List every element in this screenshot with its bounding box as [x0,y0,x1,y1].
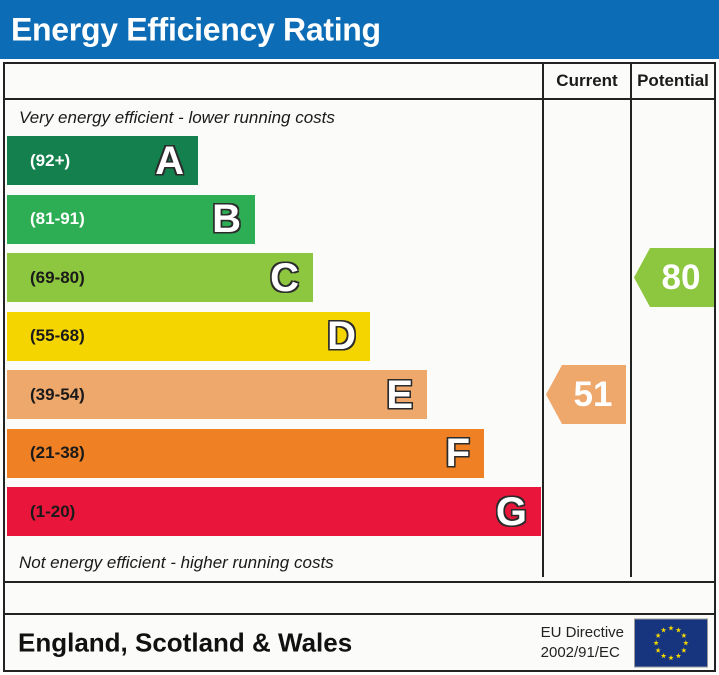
band-range-label: (69-80) [30,268,85,288]
current-rating-marker: 51 [546,365,626,424]
column-header-current: Current [542,64,630,98]
rating-bands-list: (92+)A(81-91)B(69-80)C(55-68)D(39-54)E(2… [7,136,542,545]
energy-efficiency-rating-certificate: Energy Efficiency Rating Current Potenti… [0,0,719,675]
chart-bottom-rule [5,581,714,583]
band-letter-label: F [446,433,470,473]
column-divider-current [542,100,544,577]
caption-top-text: Very energy efficient - lower running co… [5,108,335,128]
band-range-label: (55-68) [30,326,85,346]
rating-band-g: (1-20)G [7,487,541,536]
band-range-label: (81-91) [30,209,85,229]
rating-band-a: (92+)A [7,136,198,185]
rating-band-e: (39-54)E [7,370,427,419]
column-header-potential: Potential [630,64,714,98]
band-range-label: (21-38) [30,443,85,463]
rating-band-c: (69-80)C [7,253,313,302]
footer-directive-label: EU Directive 2002/91/EC [541,622,624,663]
band-letter-label: A [155,141,184,181]
band-letter-label: B [212,199,241,239]
chart-frame: Current Potential Very energy efficient … [3,62,716,615]
footer-directive-line1: EU Directive [541,622,624,642]
band-letter-label: C [270,258,299,298]
page-title: Energy Efficiency Rating [11,11,381,48]
footer-bar: England, Scotland & Wales EU Directive 2… [3,615,716,672]
rating-band-d: (55-68)D [7,312,370,361]
footer-region-label: England, Scotland & Wales [18,627,352,658]
footer-directive-line2: 2002/91/EC [541,643,624,663]
band-range-label: (1-20) [30,502,75,522]
rating-band-f: (21-38)F [7,429,484,478]
band-range-label: (92+) [30,151,70,171]
band-letter-label: G [496,492,527,532]
band-letter-label: E [386,375,413,415]
band-letter-label: D [327,316,356,356]
column-header-row: Current Potential [5,64,714,100]
column-divider-potential [630,100,632,577]
caption-bottom-text: Not energy efficient - higher running co… [5,553,334,573]
caption-top: Very energy efficient - lower running co… [5,100,542,136]
band-range-label: (39-54) [30,385,85,405]
caption-bottom: Not energy efficient - higher running co… [5,545,542,581]
header-banner: Energy Efficiency Rating [0,0,719,59]
eu-flag-icon [634,618,708,667]
potential-rating-marker: 80 [634,248,714,307]
rating-band-b: (81-91)B [7,195,255,244]
